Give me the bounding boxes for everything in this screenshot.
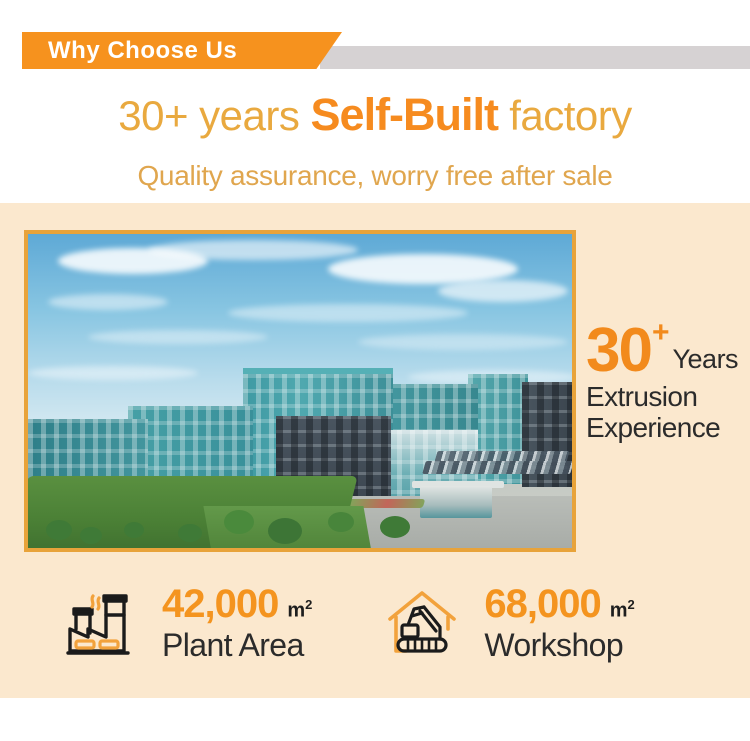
cloud-shape (438, 280, 568, 302)
tree-shape (124, 522, 144, 538)
stat-workshop: 68,000 m2 Workshop (384, 575, 634, 670)
stat-plant-area-number: 42,000 (162, 584, 278, 624)
headline-part1: 30+ years (118, 92, 310, 139)
tree-shape (224, 510, 254, 534)
tree-shape (46, 520, 72, 540)
stat-plant-area-label: Plant Area (162, 629, 312, 661)
cloud-shape (28, 366, 198, 380)
stat-workshop-number: 68,000 (484, 584, 600, 624)
years-plus-sign: + (652, 318, 670, 348)
cloud-shape (88, 330, 268, 344)
years-experience-block: 30 + Years Extrusion Experience (586, 322, 750, 444)
stat-workshop-value-row: 68,000 m2 (484, 584, 634, 624)
stat-workshop-label: Workshop (484, 629, 634, 661)
header-gray-bar (320, 46, 750, 69)
stat-plant-area: 42,000 m2 Plant Area (62, 575, 312, 670)
headline-part2: factory (498, 92, 632, 139)
tree-shape (80, 527, 102, 544)
stat-plant-area-text: 42,000 m2 Plant Area (162, 584, 312, 661)
section-tag-label: Why Choose Us (48, 37, 237, 65)
section-tag-banner: Why Choose Us (22, 32, 342, 69)
workshop-excavator-icon (384, 585, 472, 661)
years-unit-label: Years (673, 346, 739, 373)
page-headline: 30+ years Self-Built factory (0, 92, 750, 137)
factory-photo-scene (28, 234, 572, 548)
years-line2: Extrusion (586, 381, 750, 412)
cloud-shape (358, 334, 568, 350)
cloud-shape (148, 240, 358, 260)
stat-plant-area-unit: m2 (287, 598, 312, 621)
parked-cars-row-front (422, 461, 572, 474)
gatehouse (420, 486, 492, 518)
cloud-shape (228, 304, 468, 322)
years-headline-row: 30 + Years (586, 322, 750, 379)
stat-workshop-unit: m2 (610, 598, 635, 621)
stat-workshop-text: 68,000 m2 Workshop (484, 584, 634, 661)
tree-shape (380, 516, 410, 538)
tree-shape (178, 524, 202, 542)
factory-icon (62, 585, 150, 661)
headline-emphasis: Self-Built (311, 89, 499, 140)
stats-row: 42,000 m2 Plant Area (0, 575, 750, 670)
page-subheadline: Quality assurance, worry free after sale (0, 160, 750, 192)
stat-plant-area-value-row: 42,000 m2 (162, 584, 312, 624)
years-line3: Experience (586, 412, 750, 443)
cloud-shape (48, 294, 168, 310)
tree-shape (328, 512, 354, 532)
years-number: 30 (586, 322, 651, 379)
factory-photo (24, 230, 576, 552)
tree-shape (268, 518, 302, 544)
